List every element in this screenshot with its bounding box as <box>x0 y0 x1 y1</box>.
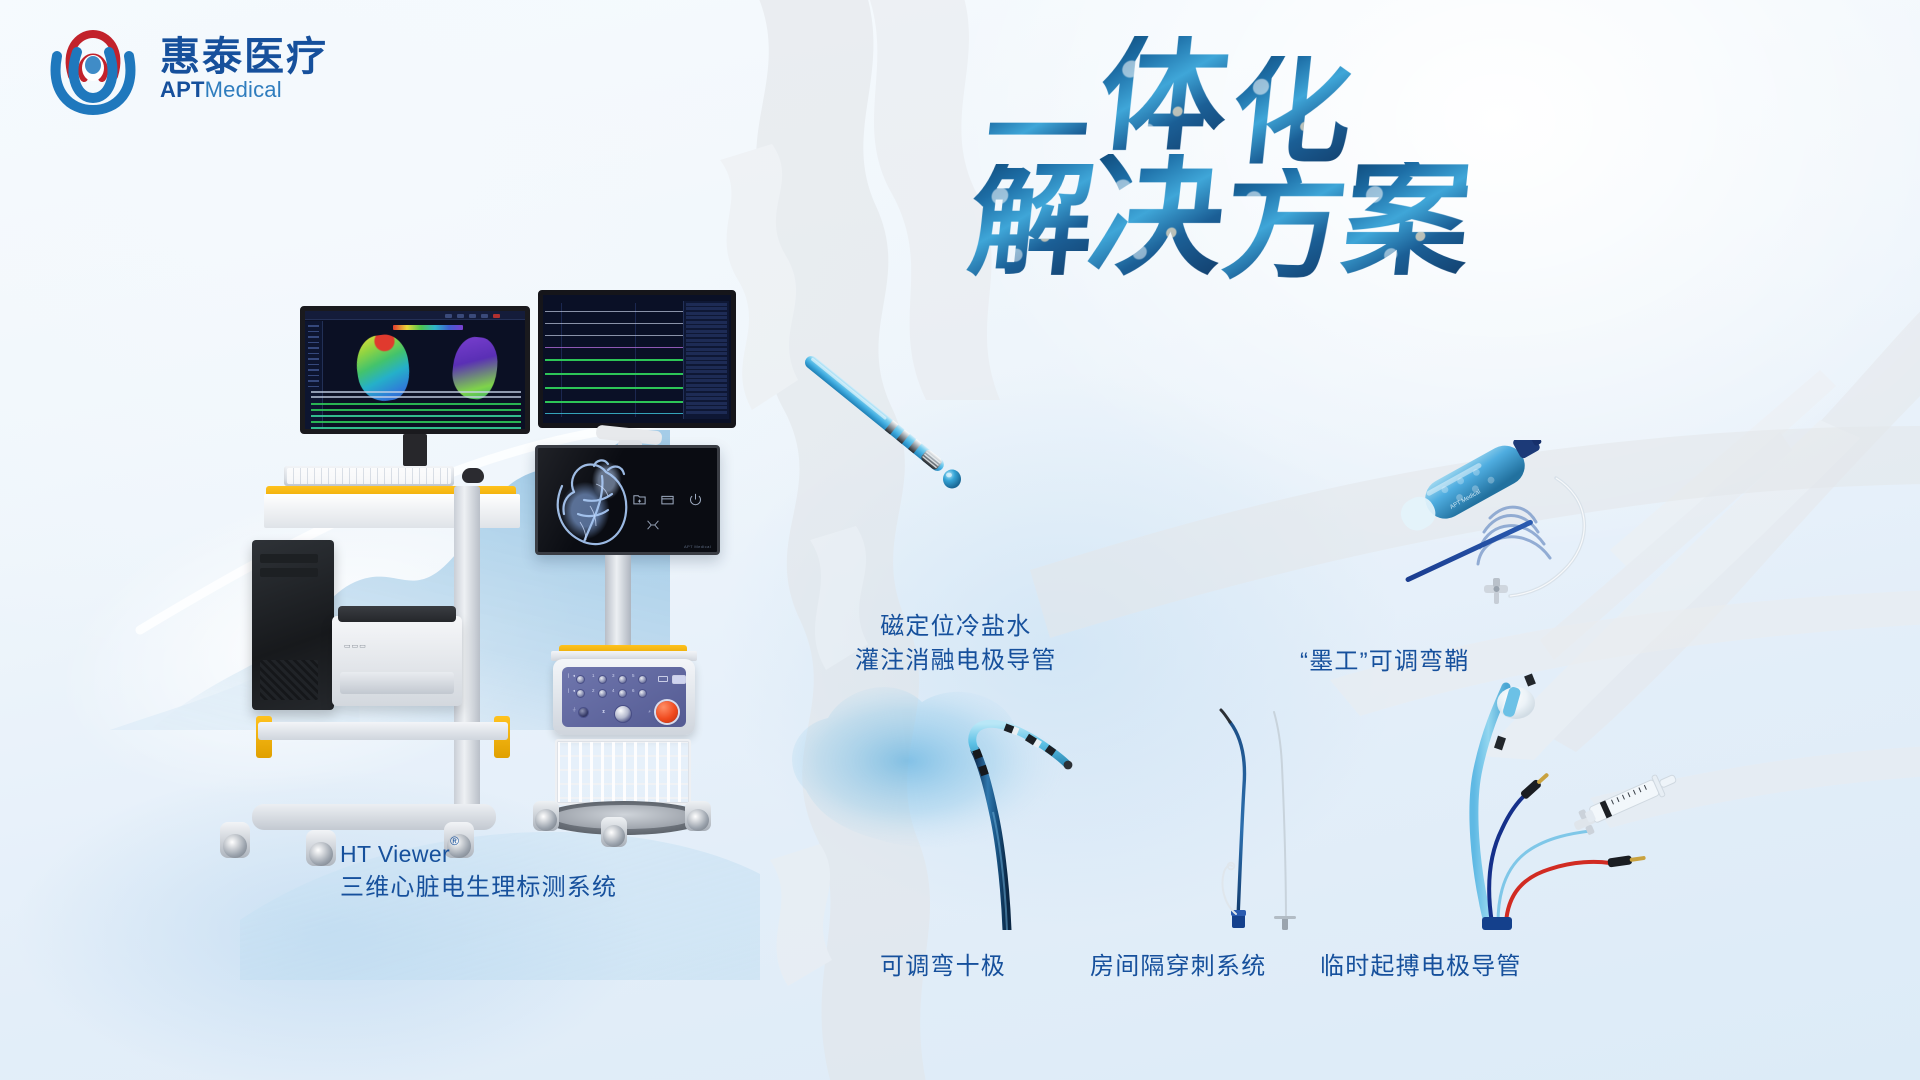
brand-name-en-light: Medical <box>205 77 282 102</box>
headline-char-4: 解 <box>964 164 1100 278</box>
decapolar-catheter-icon <box>935 700 1085 930</box>
trademark-symbol: ® <box>450 834 459 848</box>
heart-visualization-display: APT Medical <box>535 445 720 555</box>
temporary-pacing-catheter-icon <box>1440 665 1710 930</box>
mapping-toolbar <box>305 311 525 320</box>
device-label-line-1: “墨工”可调弯鞘 <box>1300 645 1470 679</box>
brand-logo: 惠泰医疗 APTMedical <box>44 20 328 118</box>
device-label-line-2: 灌注消融电极导管 <box>855 644 1057 678</box>
device-label-line-1: 磁定位冷盐水 <box>855 610 1057 644</box>
recording-screen <box>543 295 731 423</box>
mapping-monitor <box>300 306 530 434</box>
system-product-name-cn: 三维心脏电生理标测系统 <box>340 871 617 905</box>
device-label-decapolar-catheter: 可调弯十极 <box>880 950 1006 984</box>
system-product-name-en: HT Viewer® <box>340 838 617 871</box>
recording-measurement-table <box>683 301 729 419</box>
cart-caster <box>533 801 559 831</box>
system-label: HT Viewer® 三维心脏电生理标测系统 <box>340 838 617 905</box>
device-label-line-1: 可调弯十极 <box>880 950 1006 984</box>
steerable-sheath-icon: APT Medical <box>1398 440 1698 620</box>
cart-storage-basket <box>555 739 691 805</box>
cart-body: ▭▭▭ <box>258 486 526 822</box>
generator-main-connector[interactable] <box>614 705 632 723</box>
transseptal-puncture-icon <box>1190 690 1320 930</box>
brand-name-en-bold: APT <box>160 77 205 102</box>
poster-canvas: 惠泰医疗 APTMedical 一 体 化 解 决 方 案 <box>0 0 1920 1080</box>
headline-char-3: 化 <box>1226 56 1358 166</box>
mapping-side-panel <box>305 321 323 429</box>
headline-char-6: 方 <box>1218 168 1352 280</box>
device-label-steerable-sheath: “墨工”可调弯鞘 <box>1300 645 1470 679</box>
printer-paper-tray <box>340 672 454 694</box>
cart-lower-shelf <box>258 722 508 740</box>
display-glass-reflection <box>538 448 717 552</box>
mapping-color-scale <box>393 325 463 330</box>
printer-lid <box>338 606 456 622</box>
device-label-pacing-catheter: 临时起搏电极导管 <box>1320 950 1522 984</box>
printer-brand-label: ▭▭▭ <box>344 642 367 652</box>
cart-caster <box>685 801 711 831</box>
device-label-transseptal-system: 房间隔穿刺系统 <box>1090 950 1266 984</box>
cart-caster <box>220 822 250 858</box>
recording-monitor <box>538 290 736 428</box>
mapping-chamber-activation <box>353 332 414 405</box>
device-label-line-1: 临时起搏电极导管 <box>1320 950 1522 984</box>
headline-calligraphy: 一 体 化 解 决 方 案 <box>980 50 1620 350</box>
apt-medical-logo-icon <box>44 20 142 118</box>
generator-ablation-button[interactable] <box>656 701 678 723</box>
pc-power-led <box>262 688 274 700</box>
brand-wordmark: 惠泰医疗 APTMedical <box>160 37 328 101</box>
system-product-name-text: HT Viewer <box>340 841 450 867</box>
device-label-ablation-catheter: 磁定位冷盐水 灌注消融电极导管 <box>855 610 1057 678</box>
headline-line-2: 解 决 方 案 <box>970 164 1620 280</box>
display-stand-column <box>605 555 631 655</box>
mapping-screen <box>305 311 525 429</box>
monitor-stand <box>403 434 427 466</box>
workstation-desk-top <box>284 466 548 488</box>
report-printer: ▭▭▭ <box>332 616 462 706</box>
mouse[interactable] <box>462 468 484 483</box>
headline-char-7: 案 <box>1338 162 1476 278</box>
brand-name-cn: 惠泰医疗 <box>160 37 328 77</box>
headline-char-5: 决 <box>1084 154 1231 277</box>
device-label-line-1: 房间隔穿刺系统 <box>1090 950 1266 984</box>
workstation-pc-tower <box>252 540 334 710</box>
generator-front-panel: ⎸◂ ⎸◂ 1 2 3 4 5 6 ⏚ ⧗ ⚡ <box>562 667 686 727</box>
display-and-generator-cart: APT Medical ⎸◂ ⎸◂ <box>535 445 795 865</box>
brand-name-en: APTMedical <box>160 79 328 101</box>
cart-caster <box>306 830 336 866</box>
irrigated-ablation-catheter-icon <box>805 355 965 490</box>
rf-generator: ⎸◂ ⎸◂ 1 2 3 4 5 6 ⏚ ⧗ ⚡ <box>553 659 695 735</box>
keyboard[interactable] <box>284 466 454 486</box>
